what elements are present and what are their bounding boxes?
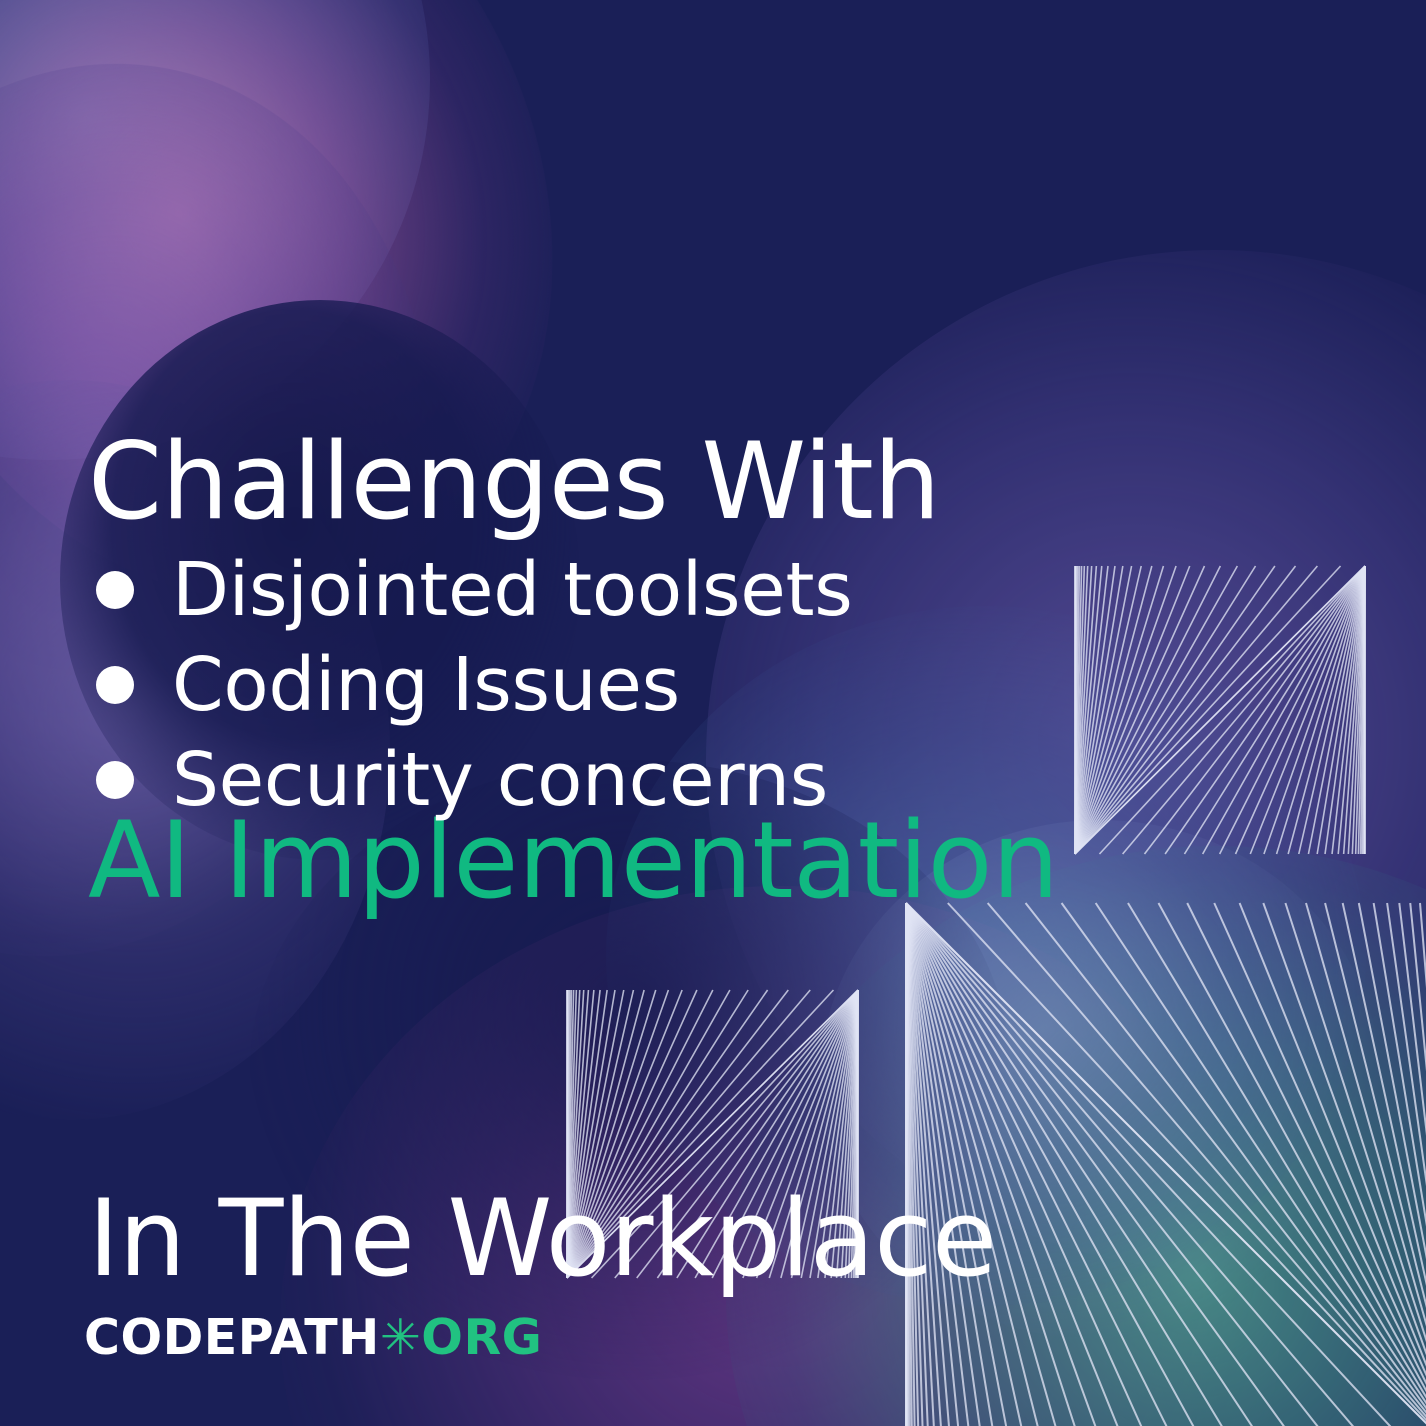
list-item: Security concerns (88, 732, 1088, 827)
list-item-label: Security concerns (172, 743, 828, 817)
poster-canvas: Challenges With AI Implementation In The… (0, 0, 1426, 1426)
bullet-dot-icon (96, 666, 134, 704)
bullet-dot-icon (96, 571, 134, 609)
headline-line-3: In The Workplace (88, 1176, 1208, 1302)
list-item-label: Disjointed toolsets (172, 553, 853, 627)
list-item: Disjointed toolsets (88, 542, 1088, 637)
logo-tld: ORG (421, 1309, 542, 1366)
challenges-list: Disjointed toolsets Coding Issues Securi… (88, 542, 1088, 827)
list-item: Coding Issues (88, 637, 1088, 732)
headline-line-1: Challenges With (88, 419, 1208, 545)
bullet-dot-icon (96, 761, 134, 799)
logo-wordmark: CODEPATH (84, 1309, 380, 1366)
list-item-label: Coding Issues (172, 648, 680, 722)
codepath-logo: CODEPATH ✳ ORG (84, 1309, 542, 1366)
logo-asterisk-icon: ✳ (380, 1313, 422, 1362)
